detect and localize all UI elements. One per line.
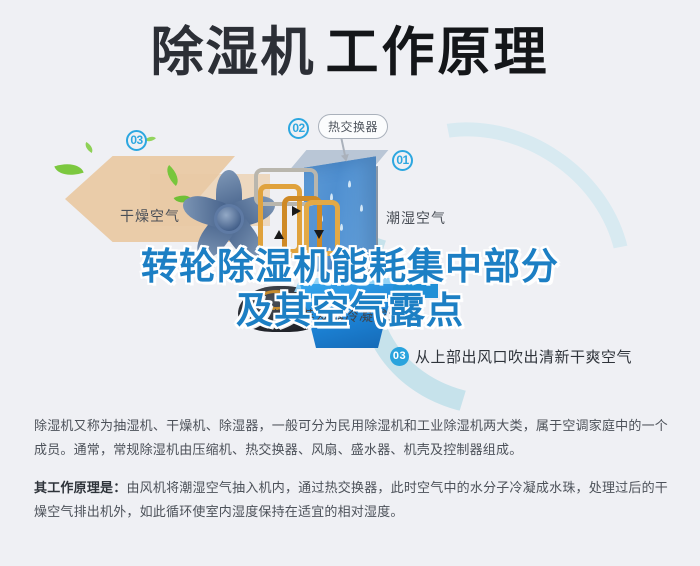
caption-condense: 经过蒸发器冷凝成水珠 xyxy=(272,306,417,326)
paragraph-principle-text: 由风机将潮湿空气抽入机内，通过热交换器，此时空气中的水分子冷凝成水珠，处理过后的… xyxy=(34,480,668,519)
page-root: 除湿机工作原理 xyxy=(0,0,700,566)
badge-step-02: 02 xyxy=(288,118,309,139)
fan-hub xyxy=(214,204,244,234)
badge-step-03-inline: 03 xyxy=(390,347,409,366)
water-droplet xyxy=(340,224,343,231)
flow-arrow-down-icon xyxy=(314,230,324,239)
flow-arrow-right-icon xyxy=(292,206,301,216)
leaf-icon xyxy=(83,142,95,153)
article-body: 除湿机又称为抽湿机、干燥机、除湿器，一般可分为民用除湿机和工业除湿机两大类，属于… xyxy=(34,414,668,538)
page-title-secondary: 工作原理 xyxy=(326,22,550,84)
caption-outlet-text: 从上部出风口吹出清新干爽空气 xyxy=(415,346,632,367)
flow-arrow-up-icon xyxy=(274,230,284,239)
water-droplet xyxy=(360,204,363,211)
water-droplet xyxy=(354,249,357,256)
heat-exchanger-callout: 热交换器 xyxy=(318,114,388,139)
paragraph-principle-lead: 其工作原理是： xyxy=(34,480,126,495)
page-title-primary: 除湿机 xyxy=(151,22,316,84)
water-droplet xyxy=(348,180,351,187)
page-title: 除湿机工作原理 xyxy=(0,22,700,84)
label-dry-air: 干燥空气 xyxy=(120,206,180,226)
label-moist-air: 潮湿空气 xyxy=(386,208,446,228)
refrigerant-coil xyxy=(304,200,340,256)
heat-exchanger xyxy=(252,144,402,294)
leaf-icon xyxy=(54,158,83,180)
badge-step-01: 01 xyxy=(392,150,413,171)
badge-step-03: 03 xyxy=(126,130,147,151)
caption-outlet-row: 03 从上部出风口吹出清新干爽空气 xyxy=(390,346,632,367)
paragraph-principle: 其工作原理是：由风机将潮湿空气抽入机内，通过热交换器，此时空气中的水分子冷凝成水… xyxy=(34,476,668,524)
dehumidifier-diagram: 水箱 热交换器 01 02 03 干燥空气 潮湿空气 经过蒸发器冷凝成水珠 03… xyxy=(0,108,700,400)
paragraph-intro: 除湿机又称为抽湿机、干燥机、除湿器，一般可分为民用除湿机和工业除湿机两大类，属于… xyxy=(34,414,668,462)
